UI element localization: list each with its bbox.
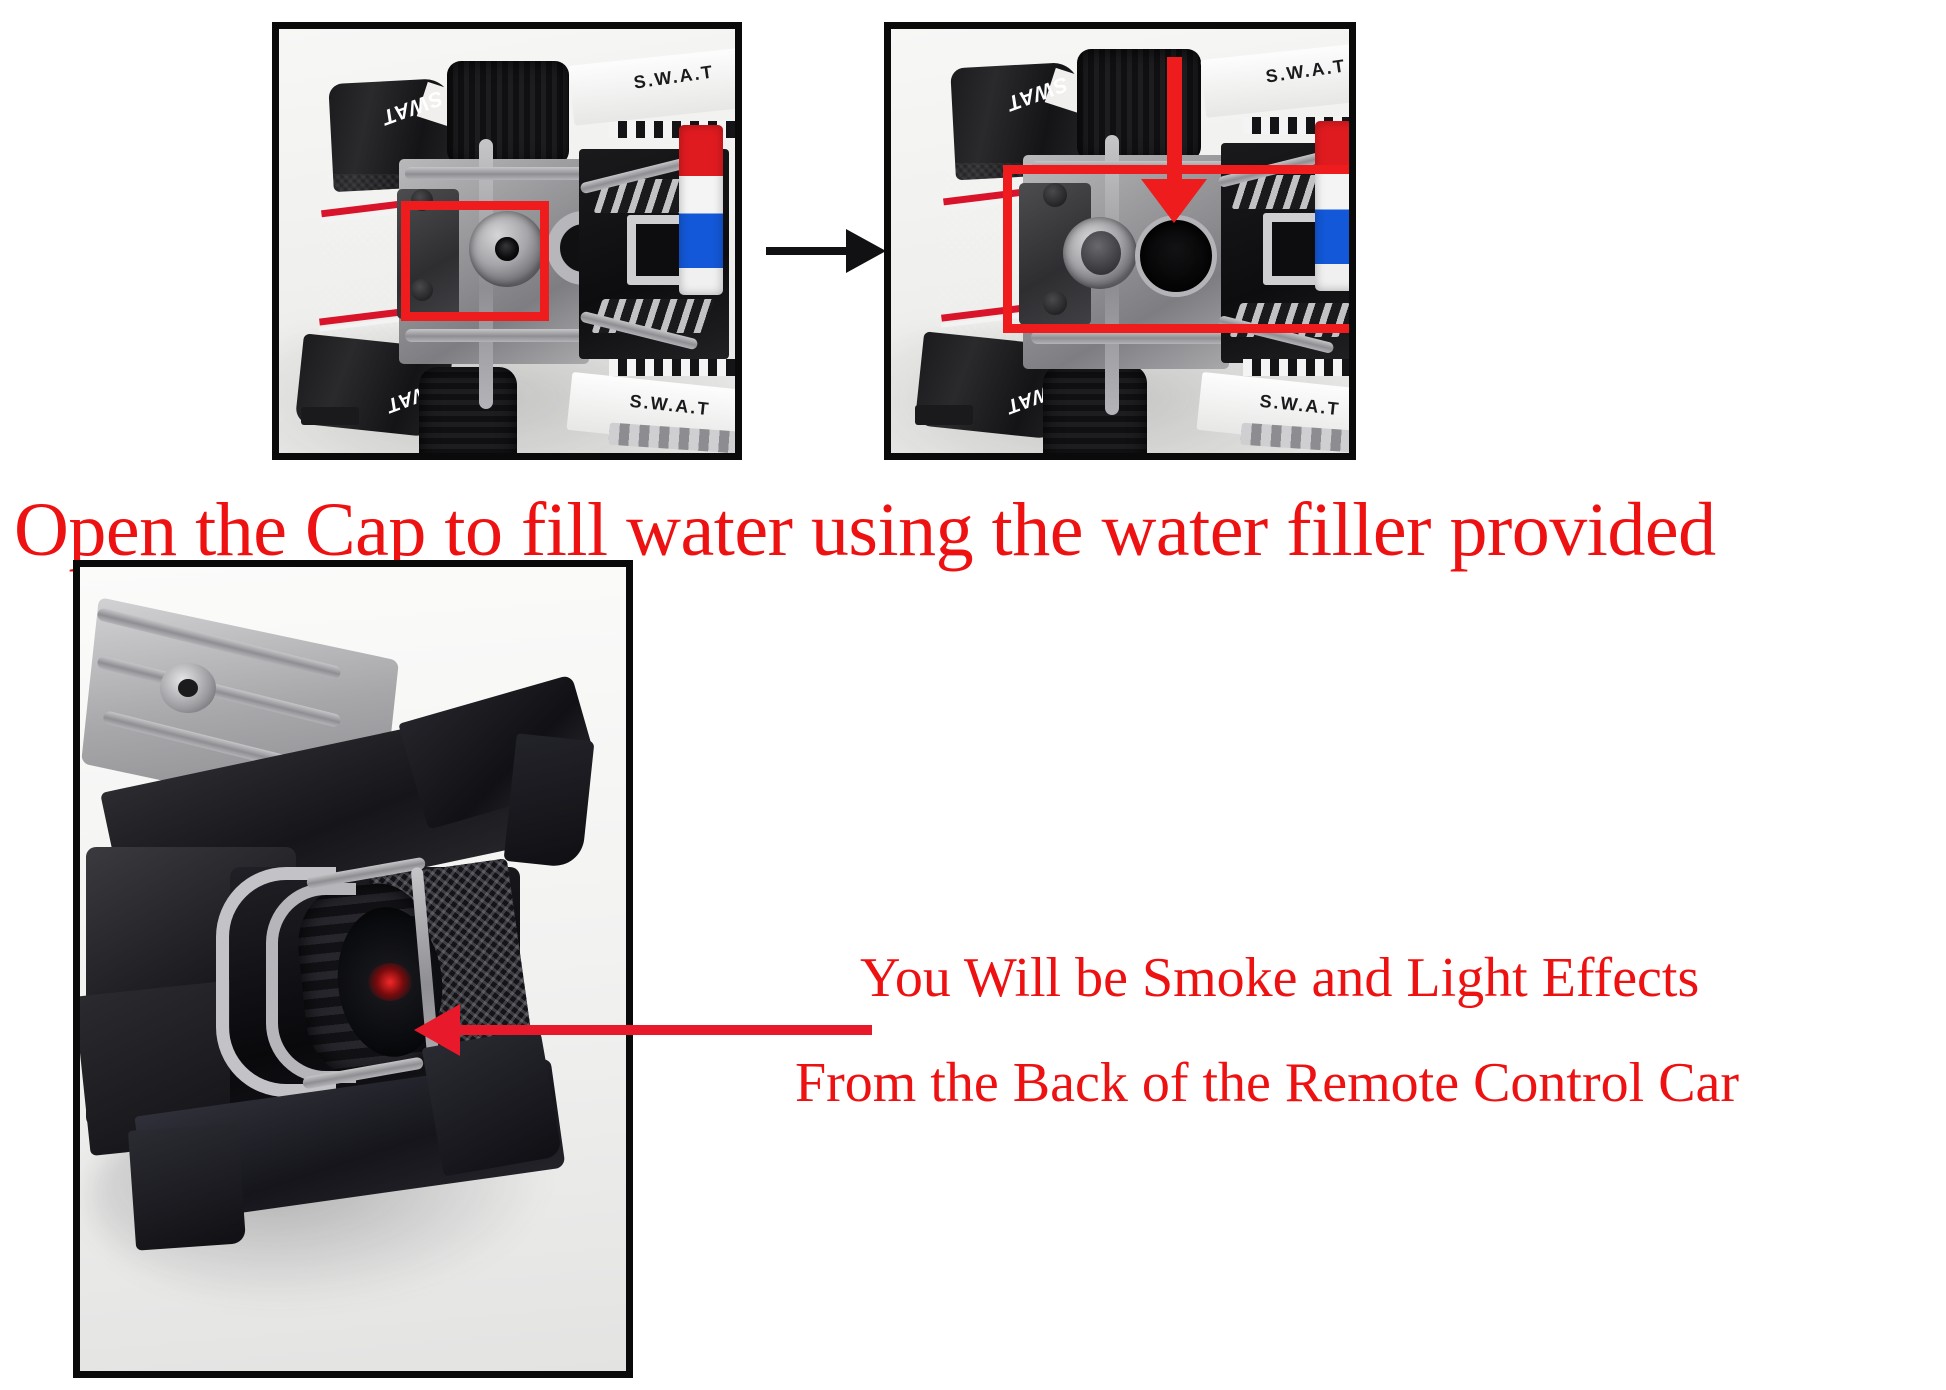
- upper-frame-gear-center: [178, 679, 198, 697]
- transition-arrow-shaft: [766, 247, 856, 255]
- police-lightbar: [679, 125, 723, 295]
- front-tire-2: [1043, 365, 1147, 453]
- splitter-foot: [301, 407, 359, 425]
- rear-tire: [447, 61, 569, 165]
- checker-strip-lower-2: [1243, 359, 1349, 376]
- cap-closed-photo: SWAT SWAT: [272, 22, 742, 460]
- checker-strip-lower: [609, 359, 735, 376]
- red-led-glow: [368, 963, 412, 1001]
- rear-smoke-outlet-photo-image: [80, 567, 626, 1371]
- guard-loop-inner: [266, 883, 356, 1083]
- rear-smoke-outlet-photo: [73, 560, 633, 1378]
- cap-open-photo: SWAT SWAT: [884, 22, 1356, 460]
- cap-open-photo-image: SWAT SWAT: [891, 29, 1349, 453]
- rear-wing-right-endplate: [504, 733, 595, 868]
- rear-tire-2: [1077, 49, 1201, 161]
- page-title-caption: Open the Cap to fill water using the wat…: [14, 492, 1716, 568]
- cap-arrow-head: [1141, 179, 1207, 223]
- cap-closed-photo-image: SWAT SWAT: [279, 29, 735, 453]
- exhaust-pointer-head: [414, 1004, 460, 1056]
- splitter-fin-left: [128, 1123, 246, 1250]
- exhaust-pointer-shaft: [460, 1025, 872, 1035]
- smoke-effects-caption: You Will be Smoke and Light Effects: [860, 950, 1699, 1006]
- transition-arrow-head: [846, 229, 886, 273]
- front-tire: [419, 367, 517, 453]
- cap-highlight-box: [401, 201, 549, 321]
- from-back-caption: From the Back of the Remote Control Car: [795, 1055, 1739, 1111]
- splitter-foot-2: [915, 405, 973, 425]
